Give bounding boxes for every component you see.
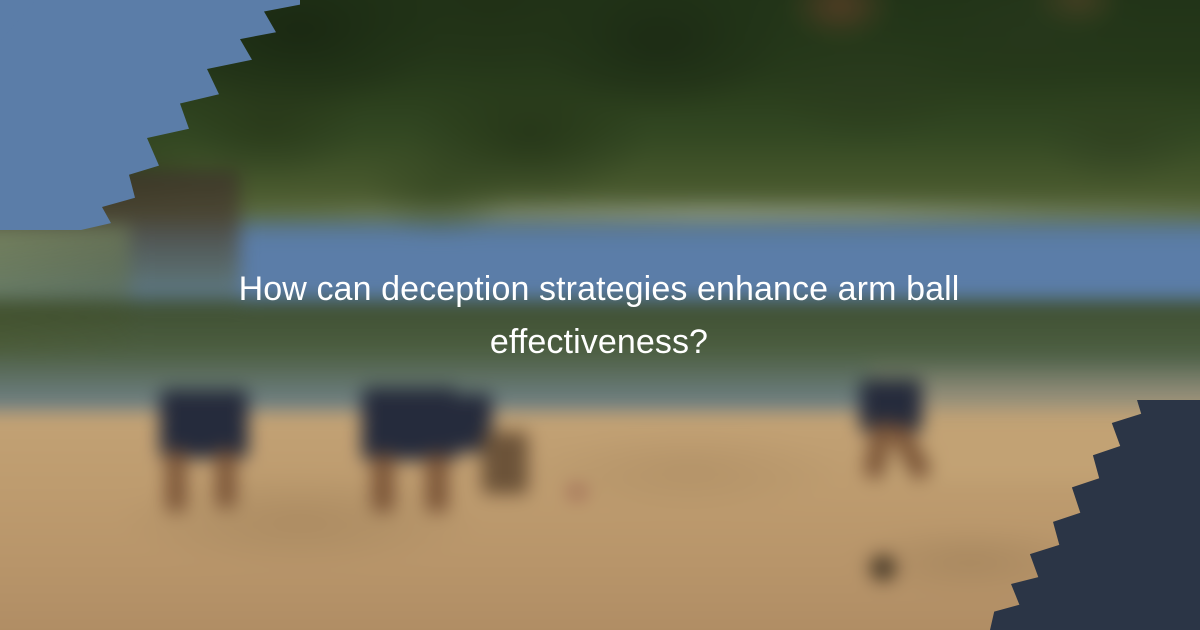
photo-player-left-leg-b [216,450,236,508]
photo-cricket-ball [870,555,896,581]
page-title: How can deception strategies enhance arm… [219,263,979,368]
photo-player-mid-leg-a [372,454,394,512]
photo-player-mid-leg-b [426,454,448,512]
photo-stumps [482,432,528,494]
screenshot-canvas: How can deception strategies enhance arm… [0,0,1200,630]
title-ribbon-banner: How can deception strategies enhance arm… [108,198,1090,434]
photo-ground-debris [568,486,586,498]
photo-player-left-leg-a [166,450,186,512]
